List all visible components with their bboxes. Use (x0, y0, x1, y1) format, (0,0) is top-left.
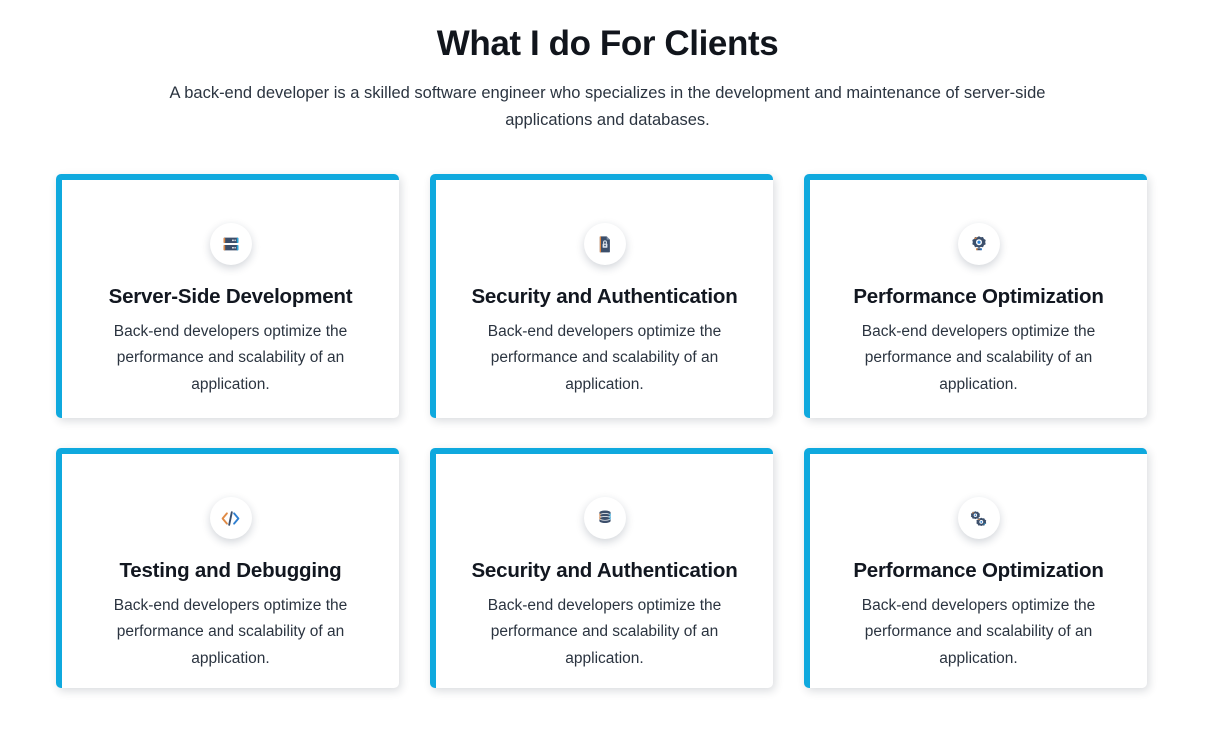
gear-icon (958, 223, 1000, 265)
section-subtitle: A back-end developer is a skilled softwa… (158, 80, 1058, 133)
code-brackets-icon (210, 497, 252, 539)
card-title: Security and Authentication (454, 285, 755, 310)
card-description: Back-end developers optimize the perform… (88, 593, 373, 673)
page-title: What I do For Clients (0, 24, 1215, 64)
gears-icon (958, 497, 1000, 539)
service-card[interactable]: Performance Optimization Back-end develo… (804, 448, 1147, 688)
service-card[interactable]: Performance Optimization Back-end develo… (804, 174, 1147, 418)
services-section: What I do For Clients A back-end develop… (0, 0, 1215, 746)
card-description: Back-end developers optimize the perform… (462, 593, 747, 673)
database-icon (584, 497, 626, 539)
section-header: What I do For Clients A back-end develop… (0, 0, 1215, 134)
card-title: Performance Optimization (828, 285, 1129, 310)
card-description: Back-end developers optimize the perform… (88, 319, 373, 399)
card-title: Server-Side Development (80, 285, 381, 310)
card-title: Testing and Debugging (80, 559, 381, 584)
service-cards-grid: Server-Side Development Back-end develop… (56, 174, 1148, 688)
card-title: Performance Optimization (828, 559, 1129, 584)
card-description: Back-end developers optimize the perform… (462, 319, 747, 399)
card-title: Security and Authentication (454, 559, 755, 584)
service-card[interactable]: Server-Side Development Back-end develop… (56, 174, 399, 418)
card-description: Back-end developers optimize the perform… (836, 319, 1121, 399)
service-card[interactable]: Testing and Debugging Back-end developer… (56, 448, 399, 688)
service-card[interactable]: Security and Authentication Back-end dev… (430, 448, 773, 688)
card-description: Back-end developers optimize the perform… (836, 593, 1121, 673)
server-icon (210, 223, 252, 265)
file-lock-icon (584, 223, 626, 265)
service-card[interactable]: Security and Authentication Back-end dev… (430, 174, 773, 418)
